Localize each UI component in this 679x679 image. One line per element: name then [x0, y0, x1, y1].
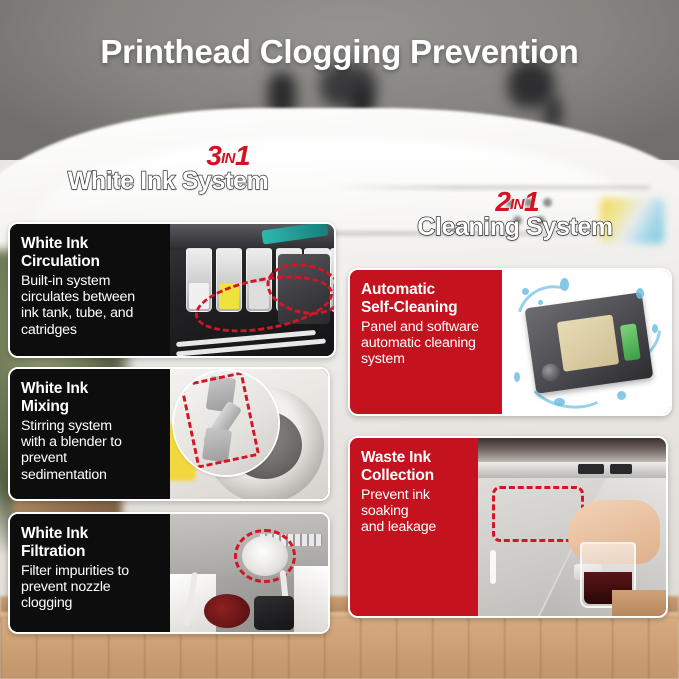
- card-title: White Ink Filtration: [21, 525, 161, 560]
- ink-pump: [254, 596, 294, 630]
- card-title: White Ink Circulation: [21, 235, 161, 270]
- red-dashed-circle-annotation: [234, 529, 296, 583]
- printer-top-cover: [478, 438, 666, 464]
- water-droplet: [617, 391, 626, 400]
- badge-in-label: IN: [221, 150, 235, 167]
- printer-vent-slot: [610, 464, 632, 474]
- printer-panel: [294, 566, 328, 632]
- water-droplet: [636, 288, 644, 299]
- water-droplet: [652, 324, 658, 333]
- card-body: Panel and software automatic cleaning sy…: [361, 319, 493, 368]
- card-title: Waste Ink Collection: [361, 449, 469, 484]
- zoom-inset-circle: [174, 371, 278, 475]
- feature-card-waste-ink[interactable]: Waste Ink Collection Prevent ink soaking…: [348, 436, 668, 618]
- card-image-filtration: [170, 514, 328, 632]
- red-dashed-box-annotation: [180, 371, 260, 468]
- water-droplet: [554, 398, 565, 406]
- feature-card-mixing[interactable]: White Ink Mixing Stirring system with a …: [8, 367, 330, 501]
- card-text-block: Waste Ink Collection Prevent ink soaking…: [350, 438, 478, 616]
- water-droplet: [560, 278, 569, 291]
- feature-card-circulation[interactable]: White Ink Circulation Built-in system ci…: [8, 222, 336, 358]
- card-image-circulation: [170, 224, 334, 356]
- card-image-waste-ink: [478, 438, 666, 616]
- card-title: Automatic Self-Cleaning: [361, 281, 493, 316]
- printhead-nozzle-plate: [557, 314, 619, 371]
- card-body: Stirring system with a blender to preven…: [21, 418, 161, 483]
- printhead-connector: [620, 323, 641, 361]
- card-text-block: Automatic Self-Cleaning Panel and softwa…: [350, 270, 502, 414]
- card-body: Filter impurities to prevent nozzle clog…: [21, 563, 161, 612]
- infographic-stage: Printhead Clogging Prevention 3IN1 White…: [0, 0, 679, 679]
- wood-counter-corner: [612, 590, 666, 616]
- water-droplet: [538, 300, 543, 305]
- printer-top-cover-edge: [478, 462, 666, 478]
- card-body: Prevent ink soaking and leakage: [361, 487, 469, 536]
- feature-card-self-cleaning[interactable]: Automatic Self-Cleaning Panel and softwa…: [348, 268, 672, 416]
- printhead: [525, 292, 654, 394]
- card-text-block: White Ink Circulation Built-in system ci…: [10, 224, 170, 356]
- section-title-white-ink-system: White Ink System: [8, 168, 328, 194]
- water-droplet: [514, 372, 520, 382]
- card-image-self-cleaning: [502, 270, 670, 414]
- feature-card-filtration[interactable]: White Ink Filtration Filter impurities t…: [8, 512, 330, 634]
- ink-tube-stream: [490, 550, 496, 584]
- card-text-block: White Ink Filtration Filter impurities t…: [10, 514, 170, 632]
- card-title: White Ink Mixing: [21, 380, 161, 415]
- card-text-block: White Ink Mixing Stirring system with a …: [10, 369, 170, 499]
- red-ink-coil: [204, 594, 250, 628]
- section-heading-cleaning-system: 2IN1 Cleaning System: [360, 188, 670, 240]
- badge-3-in-1: 3IN1: [128, 142, 328, 170]
- section-heading-white-ink-system: 3IN1 White Ink System: [8, 142, 328, 194]
- section-title-cleaning-system: Cleaning System: [360, 214, 670, 240]
- printhead-mount-hole: [541, 362, 561, 382]
- badge-in-label: IN: [510, 196, 524, 213]
- printer-vent-slot: [578, 464, 604, 474]
- badge-2-in-1: 2IN1: [364, 188, 670, 216]
- card-image-mixing: [170, 369, 328, 499]
- water-droplet: [522, 288, 529, 295]
- card-body: Built-in system circulates between ink t…: [21, 273, 161, 338]
- page-title: Printhead Clogging Prevention: [0, 33, 679, 71]
